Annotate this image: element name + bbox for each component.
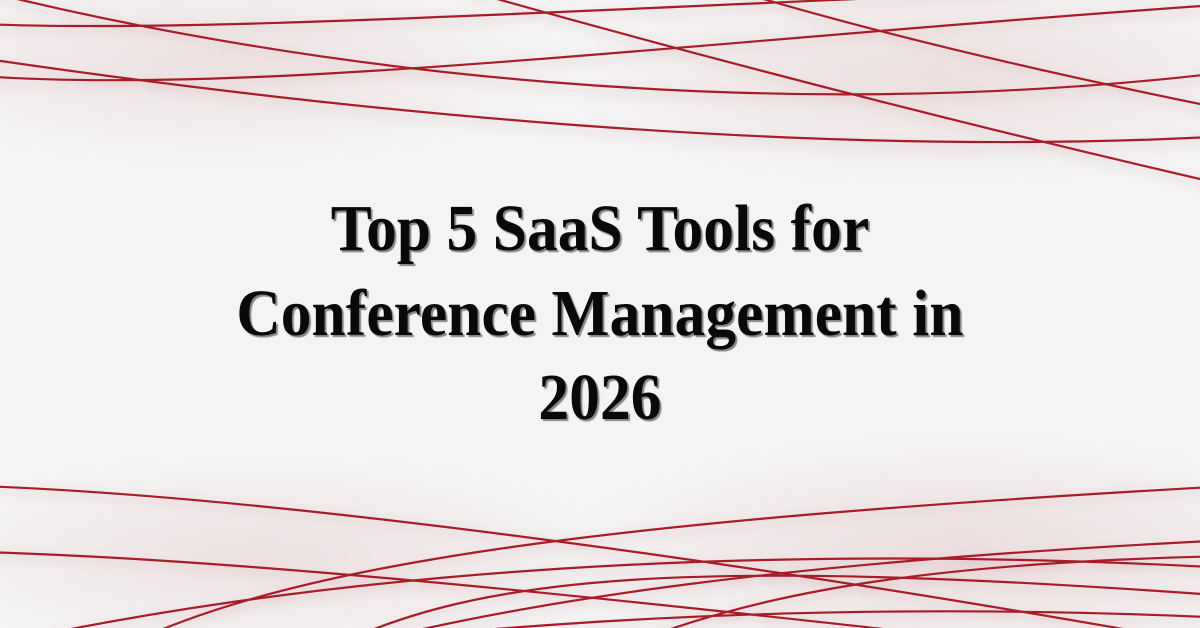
title-line-3: 2026 [538,361,661,434]
title-line-2: Conference Management in [236,277,963,350]
page-title: Top 5 SaaS Tools for Conference Manageme… [191,187,1009,440]
banner-card: Top 5 SaaS Tools for Conference Manageme… [0,0,1200,628]
title-line-1: Top 5 SaaS Tools for [331,192,870,265]
title-block: Top 5 SaaS Tools for Conference Manageme… [0,0,1200,628]
